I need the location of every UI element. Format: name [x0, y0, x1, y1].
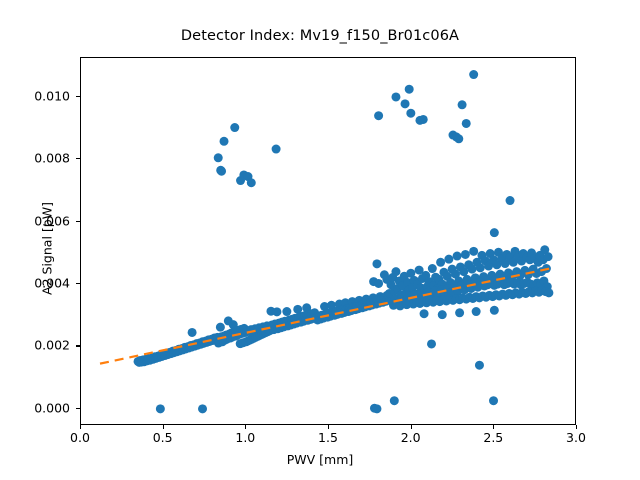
x-tick-mark [163, 425, 164, 429]
x-tick-label: 2.5 [463, 430, 523, 445]
y-tick-label: 0.010 [8, 88, 70, 103]
x-tick-mark [80, 425, 81, 429]
x-tick-label: 0.0 [50, 430, 110, 445]
x-tick-label: 1.5 [298, 430, 358, 445]
x-tick-mark [493, 425, 494, 429]
x-tick-label: 3.0 [546, 430, 606, 445]
y-tick-label: 0.008 [8, 151, 70, 166]
x-tick-mark [411, 425, 412, 429]
x-tick-mark [576, 425, 577, 429]
plot-area [80, 57, 576, 425]
y-tick-label: 0.006 [8, 213, 70, 228]
page-title: Detector Index: Mv19_f150_Br01c06A [0, 28, 640, 44]
x-axis-label: PWV [mm] [0, 452, 640, 467]
y-tick-label: 0.002 [8, 338, 70, 353]
x-tick-label: 2.0 [381, 430, 441, 445]
x-tick-mark [245, 425, 246, 429]
trend-line-layer [81, 58, 576, 425]
x-tick-mark [328, 425, 329, 429]
matplotlib-figure: Detector Index: Mv19_f150_Br01c06A A2 Si… [0, 0, 640, 480]
y-tick-label: 0.000 [8, 400, 70, 415]
y-tick-label: 0.004 [8, 276, 70, 291]
trend-line [100, 268, 553, 364]
x-tick-label: 1.0 [215, 430, 275, 445]
x-tick-label: 0.5 [133, 430, 193, 445]
